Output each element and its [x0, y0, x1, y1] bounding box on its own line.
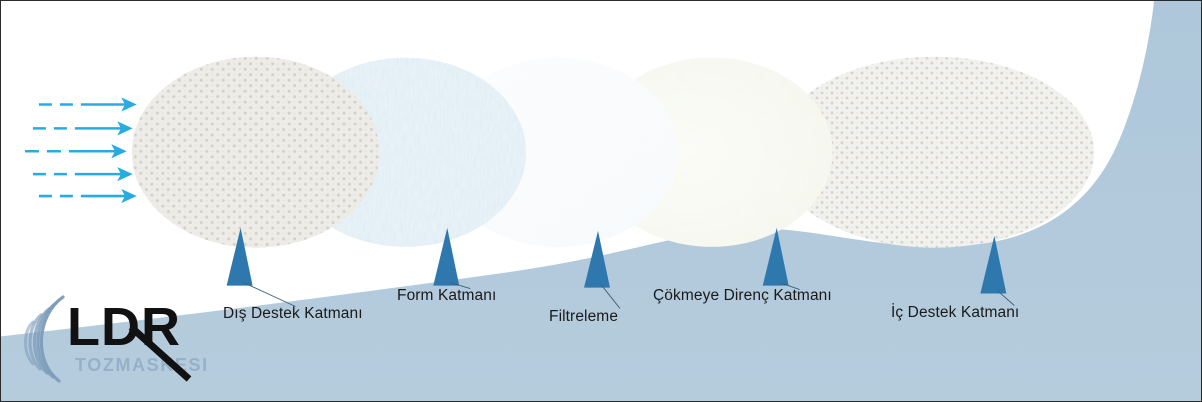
brand-logo[interactable]: LDR TOZMASKESI	[11, 283, 221, 391]
label-ic-destek-katmani: İç Destek Katmanı	[891, 305, 1019, 321]
logo-signal-rings-icon	[26, 297, 64, 381]
logo-wordmark: LDR	[67, 297, 181, 357]
label-cokmeye-direnc-katmani: Çökmeye Direnç Katmanı	[653, 288, 832, 304]
label-dis-destek-katmani: Dış Destek Katmanı	[223, 306, 363, 322]
label-filtreleme: Filtreleme	[549, 309, 618, 325]
label-form-katmani: Form Katmanı	[397, 288, 496, 304]
diagram-canvas: LDR TOZMASKESI Dış Destek Katmanı Form K…	[0, 0, 1202, 402]
layer-dis-destek-katmani	[132, 57, 380, 248]
logo-tagline: TOZMASKESI	[75, 355, 209, 375]
